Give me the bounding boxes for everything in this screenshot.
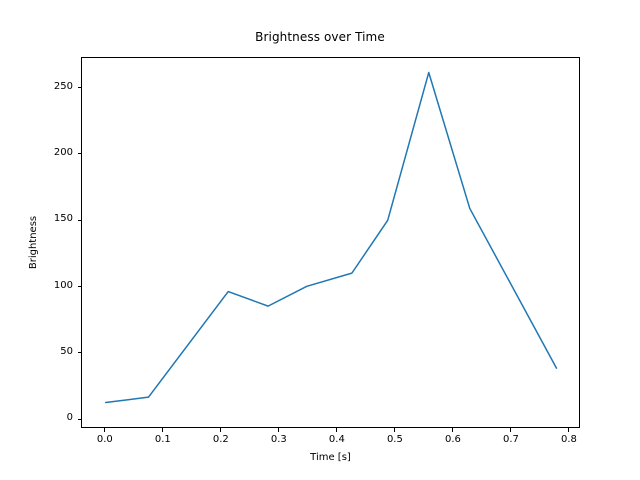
x-tick-label: 0.8 xyxy=(539,434,599,445)
x-tick-mark xyxy=(104,428,105,432)
x-tick-mark xyxy=(510,428,511,432)
x-tick-label: 0.0 xyxy=(75,434,135,445)
y-axis-label: Brightness xyxy=(28,57,39,428)
y-tick-mark xyxy=(78,286,82,287)
y-tick-mark xyxy=(78,153,82,154)
x-tick-label: 0.1 xyxy=(133,434,193,445)
x-axis-label: Time [s] xyxy=(81,452,580,463)
x-tick-label: 0.3 xyxy=(249,434,309,445)
chart-title: Brightness over Time xyxy=(0,30,640,44)
y-tick-mark xyxy=(78,220,82,221)
plot-axes-frame xyxy=(81,57,580,428)
x-tick-mark xyxy=(336,428,337,432)
x-tick-label: 0.5 xyxy=(365,434,425,445)
x-tick-mark xyxy=(452,428,453,432)
x-tick-mark xyxy=(568,428,569,432)
x-tick-label: 0.4 xyxy=(307,434,367,445)
plot-canvas xyxy=(82,58,579,427)
matplotlib-figure: Brightness over Time 0.00.10.20.30.40.50… xyxy=(0,0,640,480)
x-tick-label: 0.7 xyxy=(481,434,541,445)
y-tick-mark xyxy=(78,419,82,420)
x-tick-mark xyxy=(278,428,279,432)
x-tick-label: 0.6 xyxy=(423,434,483,445)
brightness-line-series xyxy=(106,73,557,403)
x-tick-label: 0.2 xyxy=(191,434,251,445)
x-tick-mark xyxy=(220,428,221,432)
x-tick-mark xyxy=(394,428,395,432)
y-tick-mark xyxy=(78,87,82,88)
y-tick-mark xyxy=(78,352,82,353)
x-tick-mark xyxy=(162,428,163,432)
